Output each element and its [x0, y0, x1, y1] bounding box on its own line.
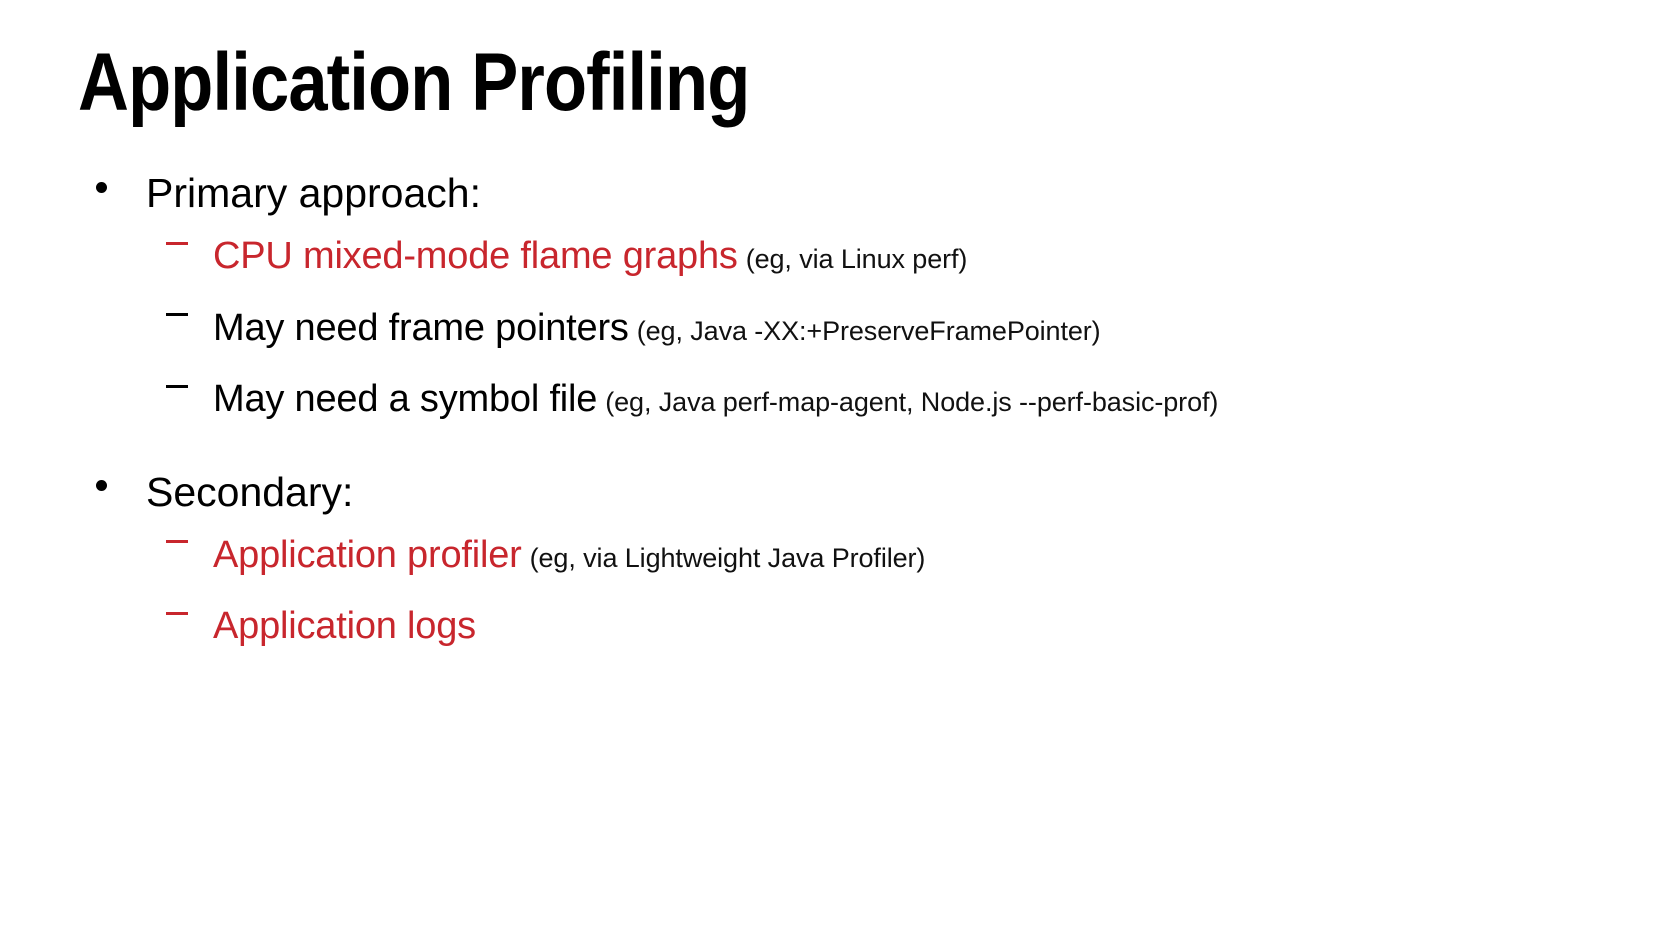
- list-item: Application profiler(eg, via Lightweight…: [78, 533, 1578, 579]
- section-secondary: Secondary: Application profiler(eg, via …: [78, 467, 1578, 650]
- list-item-note: (eg, via Lightweight Java Profiler): [530, 543, 926, 573]
- list-item-label: Application profiler: [213, 534, 522, 576]
- round-bullet-icon: [96, 480, 107, 491]
- section-spacer: [78, 449, 1578, 467]
- list-item-note: (eg, Java -XX:+PreserveFramePointer): [637, 316, 1101, 346]
- page-title: Application Profiling: [78, 42, 749, 124]
- list-item-label: May need a symbol file: [213, 378, 597, 420]
- list-item: May need a symbol file(eg, Java perf-map…: [78, 377, 1578, 423]
- section-heading-primary: Primary approach:: [78, 168, 1578, 218]
- section-primary: Primary approach: CPU mixed-mode flame g…: [78, 168, 1578, 423]
- list-item-note: (eg, Java perf-map-agent, Node.js --perf…: [605, 387, 1218, 417]
- round-bullet-icon: [96, 182, 107, 193]
- dash-bullet-icon: [166, 612, 188, 615]
- list-item: CPU mixed-mode flame graphs(eg, via Linu…: [78, 234, 1578, 280]
- list-item: Application logs: [78, 604, 1578, 650]
- list-item-label: Application logs: [213, 605, 476, 647]
- slide-body: Primary approach: CPU mixed-mode flame g…: [78, 168, 1578, 676]
- list-item-label: May need frame pointers: [213, 307, 629, 349]
- section-heading-label: Primary approach:: [146, 170, 481, 216]
- list-item: May need frame pointers(eg, Java -XX:+Pr…: [78, 306, 1578, 352]
- list-item-note: (eg, via Linux perf): [746, 244, 968, 274]
- dash-bullet-icon: [166, 540, 188, 543]
- section-heading-label: Secondary:: [146, 469, 353, 515]
- dash-bullet-icon: [166, 313, 188, 316]
- section-heading-secondary: Secondary:: [78, 467, 1578, 517]
- slide-canvas: Application Profiling Primary approach: …: [0, 0, 1654, 931]
- dash-bullet-icon: [166, 385, 188, 388]
- dash-bullet-icon: [166, 242, 188, 245]
- list-item-label: CPU mixed-mode flame graphs: [213, 235, 738, 277]
